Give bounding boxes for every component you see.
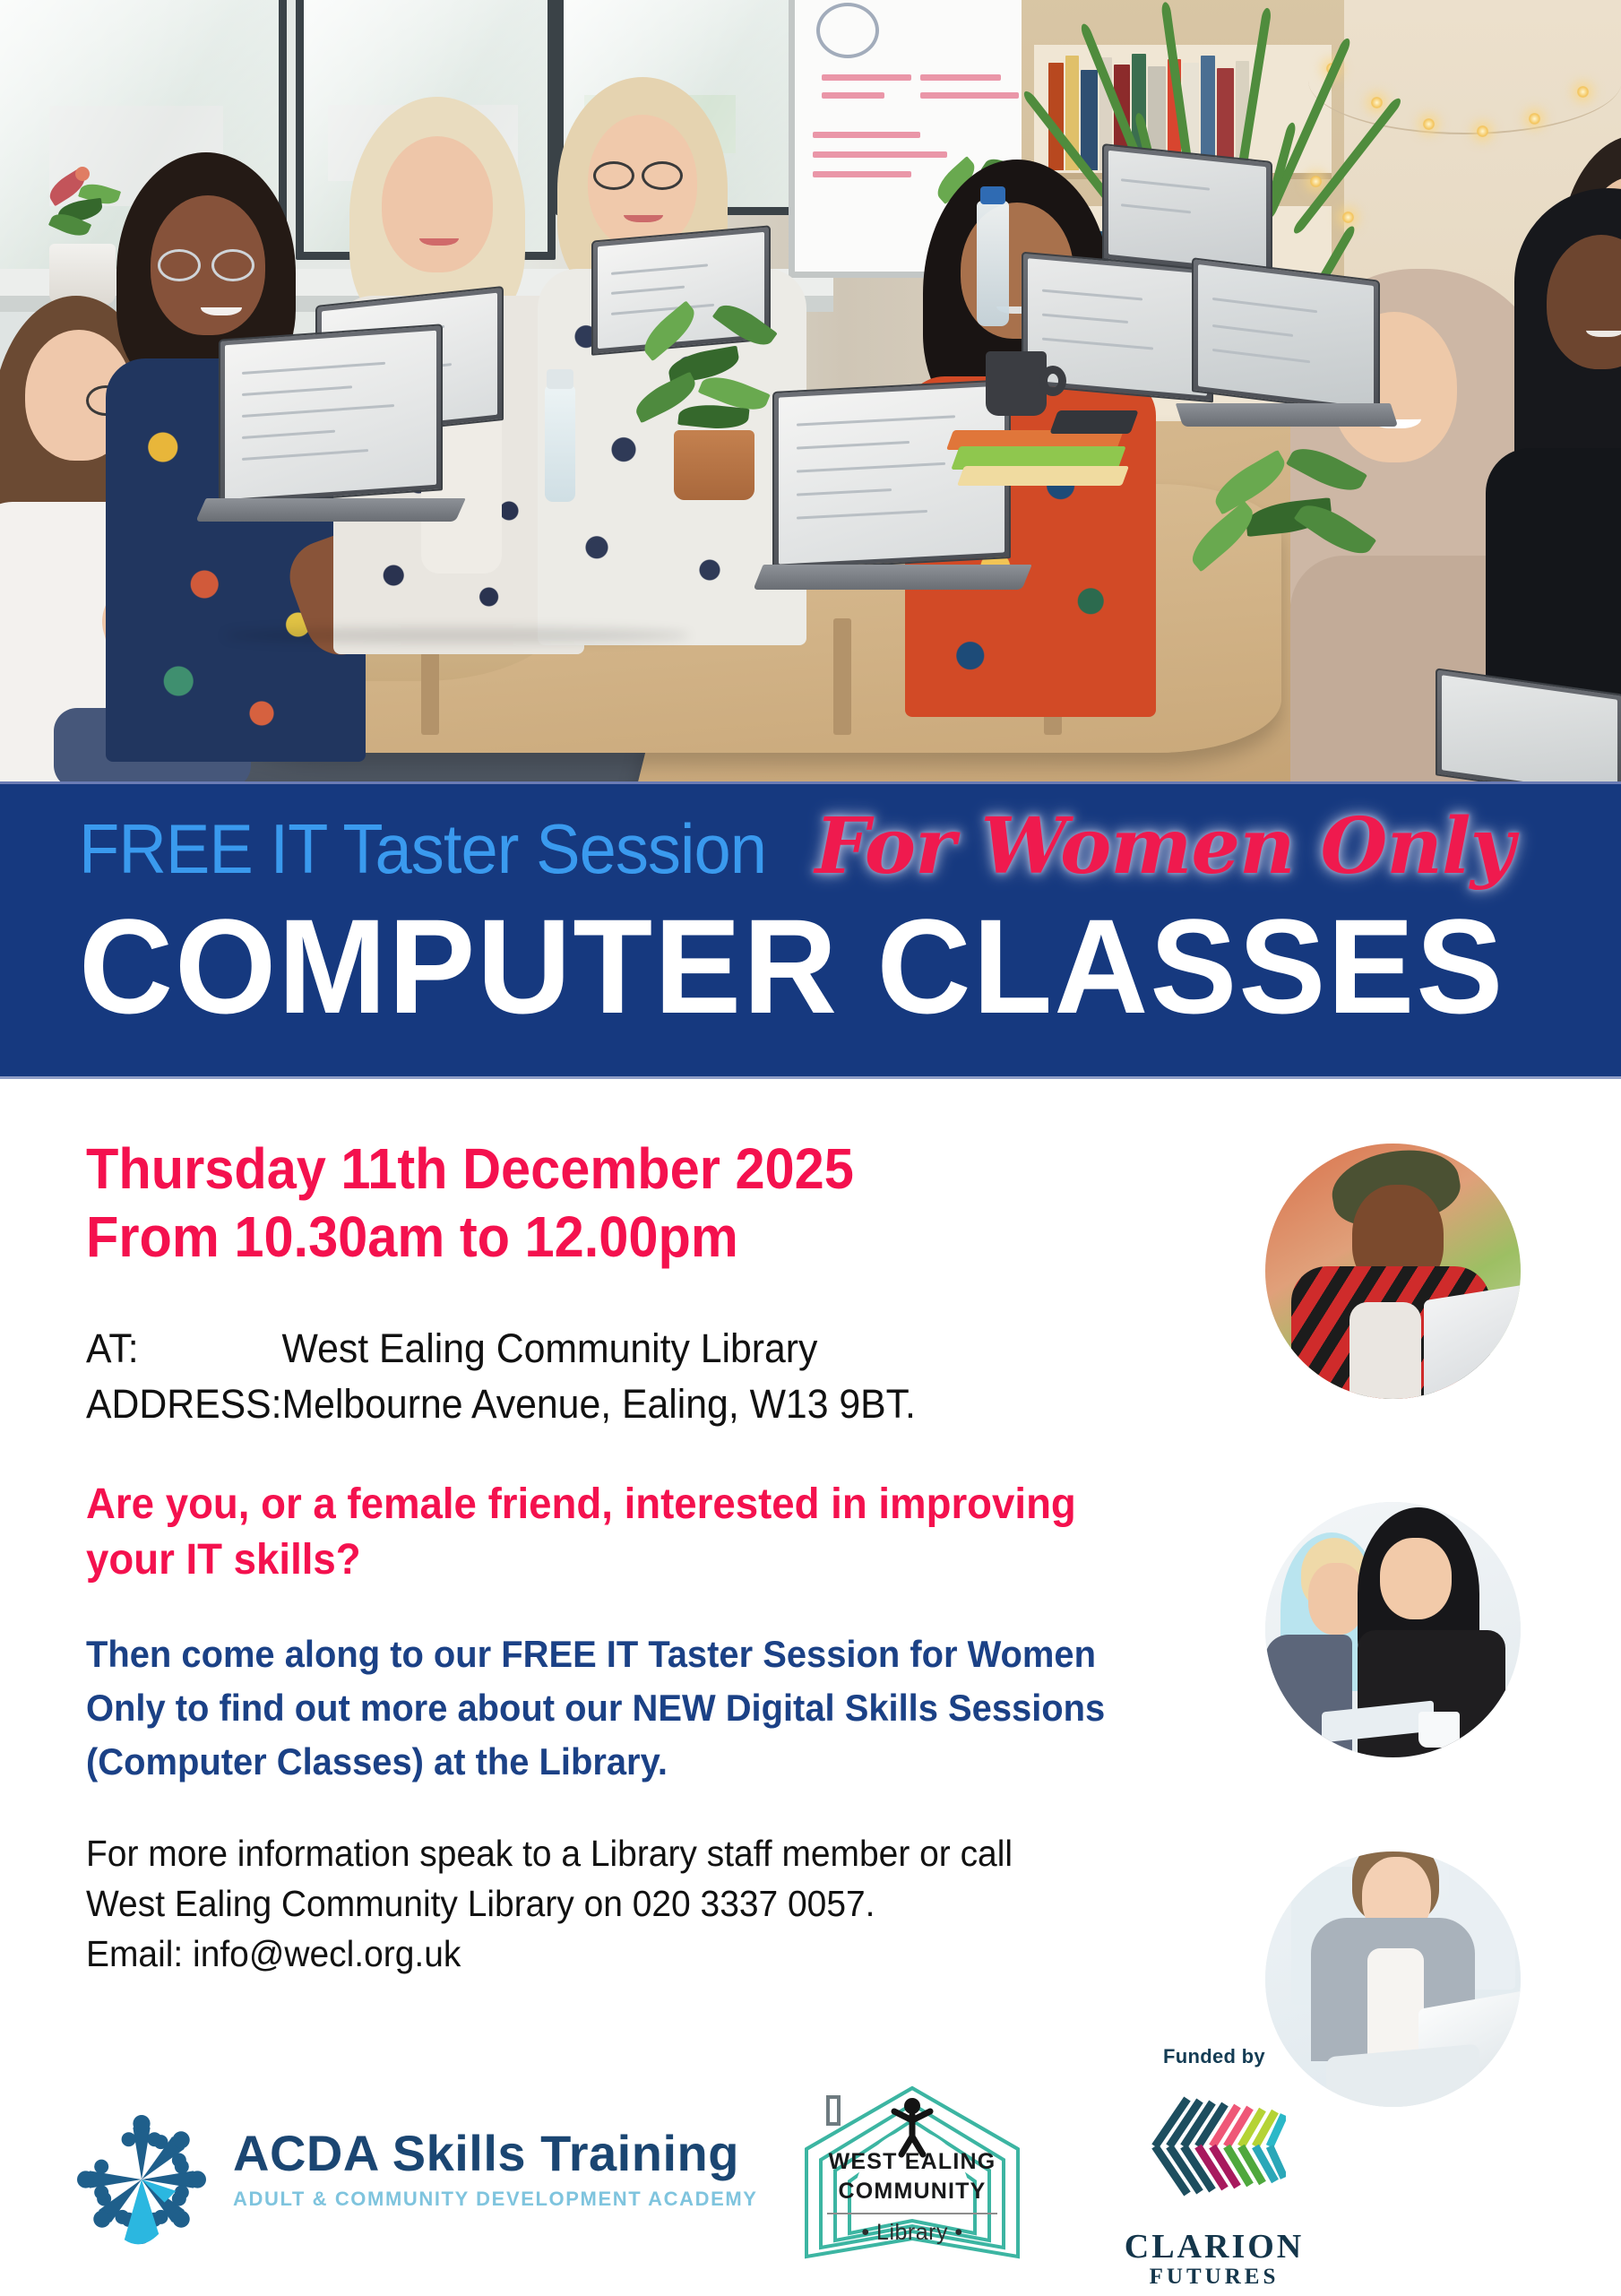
string-lights <box>1308 27 1621 134</box>
title-banner: FREE IT Taster SessionFor Women Only COM… <box>0 781 1621 1079</box>
mug <box>986 351 1047 416</box>
notebook-stack <box>957 466 1129 486</box>
venue-at-row: AT:West Ealing Community Library <box>86 1321 1159 1377</box>
remote-control <box>1049 410 1138 434</box>
venue-address-row: ADDRESS:Melbourne Avenue, Ealing, W13 9B… <box>86 1377 1159 1432</box>
banner-top-rule <box>0 781 1621 784</box>
lead-question: Are you, or a female friend, interested … <box>86 1477 1159 1588</box>
banner-kicker-row: FREE IT Taster SessionFor Women Only <box>79 801 1593 898</box>
clarion-sub: FUTURES <box>1102 2265 1326 2290</box>
venue-block: AT:West Ealing Community Library ADDRESS… <box>86 1321 1159 1432</box>
acda-wordmark: ACDA Skills Training ADULT & COMMUNITY D… <box>233 2124 758 2211</box>
photo-two-women-tablet <box>1265 1502 1521 1757</box>
hero-photo <box>0 0 1621 781</box>
laptop <box>1102 152 1272 269</box>
laptop <box>219 332 461 522</box>
water-bottle <box>977 201 1009 326</box>
invitation-paragraph: Then come along to our FREE IT Taster Se… <box>86 1627 1159 1789</box>
snowflake-icon <box>70 2108 213 2251</box>
clarion-name: CLARION <box>1102 2227 1326 2266</box>
clarion-futures-logo: Funded by CLARION FUTURES <box>1102 2045 1326 2296</box>
acda-tagline: ADULT & COMMUNITY DEVELOPMENT ACADEMY <box>233 2188 758 2211</box>
contact-line-3: Email: info@wecl.org.uk <box>86 1929 1159 1979</box>
funded-by-label: Funded by <box>1102 2045 1326 2068</box>
contact-line-2: West Ealing Community Library on 020 333… <box>86 1878 1159 1929</box>
banner-headline: COMPUTER CLASSES <box>79 891 1556 1041</box>
hero-scene <box>0 0 1621 781</box>
contact-block: For more information speak to a Library … <box>86 1828 1159 1979</box>
text-column: Thursday 11th December 2025 From 10.30am… <box>86 1135 1215 1979</box>
banner-kicker: FREE IT Taster Session <box>79 808 766 890</box>
laptop <box>1192 269 1394 427</box>
footer-logos: ACDA Skills Training ADULT & COMMUNITY D… <box>0 2061 1621 2294</box>
photo-woman-headwrap-laptop <box>1265 1144 1521 1399</box>
event-time: From 10.30am to 12.00pm <box>86 1203 1136 1271</box>
event-date: Thursday 11th December 2025 <box>86 1135 1136 1203</box>
laptop <box>772 385 1027 590</box>
library-line-3: • Library • <box>778 2220 1047 2246</box>
water-bottle <box>545 385 575 502</box>
acda-logo: ACDA Skills Training ADULT & COMMUNITY D… <box>70 2108 697 2260</box>
library-line-1: WEST EALING <box>778 2147 1047 2177</box>
venue-address-label: ADDRESS: <box>86 1377 282 1432</box>
library-wordmark: WEST EALING COMMUNITY • Library • <box>778 2147 1047 2246</box>
contact-line-1: For more information speak to a Library … <box>86 1828 1159 1878</box>
banner-script-accent: For Women Only <box>815 801 1513 892</box>
clarion-hexagon-icon <box>1142 2079 1286 2214</box>
library-line-2: COMMUNITY <box>778 2177 1047 2206</box>
acda-name: ACDA Skills Training <box>233 2124 758 2182</box>
west-ealing-library-logo: WEST EALING COMMUNITY • Library • <box>778 2081 1047 2287</box>
library-divider <box>827 2213 997 2214</box>
venue-at-label: AT: <box>86 1321 282 1377</box>
venue-at-value: West Ealing Community Library <box>282 1325 818 1371</box>
laptop <box>1436 681 1621 781</box>
venue-address-value: Melbourne Avenue, Ealing, W13 9BT. <box>282 1381 916 1427</box>
